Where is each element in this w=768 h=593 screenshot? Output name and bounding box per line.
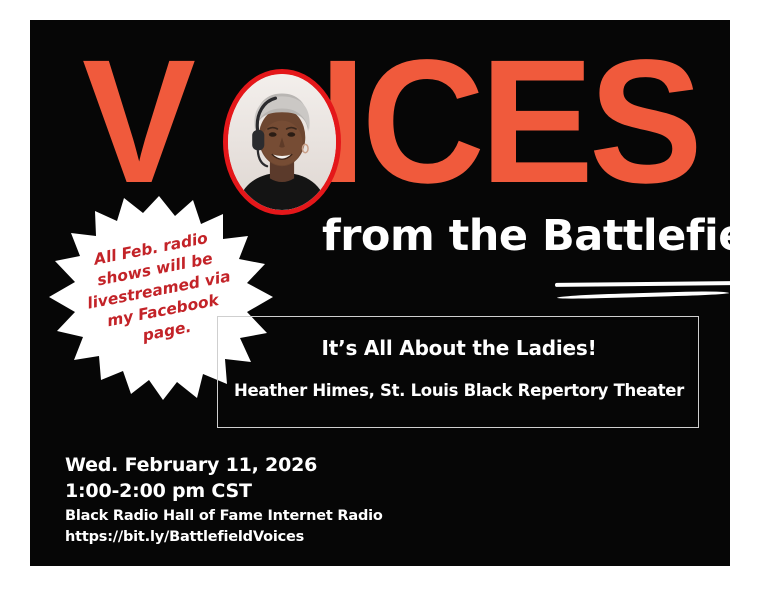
underline-stroke-top bbox=[555, 281, 730, 287]
event-station: Black Radio Hall of Fame Internet Radio bbox=[65, 506, 383, 527]
voices-letters-ices: ICES bbox=[319, 24, 698, 220]
tagline-underline-swooshes bbox=[555, 282, 730, 300]
voices-wordmark-text: VOICES bbox=[82, 38, 698, 206]
show-title: It’s All About the Ladies! bbox=[218, 336, 700, 360]
tagline-text: from the Battlefield bbox=[322, 212, 730, 260]
underline-stroke-bottom bbox=[557, 291, 729, 300]
event-date: Wed. February 11, 2026 bbox=[65, 452, 383, 478]
event-details: Wed. February 11, 2026 1:00-2:00 pm CST … bbox=[65, 452, 383, 547]
event-time: 1:00-2:00 pm CST bbox=[65, 478, 383, 504]
show-title-box: It’s All About the Ladies! Heather Himes… bbox=[217, 316, 699, 428]
voices-wordmark: VOICES bbox=[30, 38, 730, 208]
poster-panel: VOICES bbox=[30, 20, 730, 566]
show-guest: Heather Himes, St. Louis Black Repertory… bbox=[218, 381, 700, 400]
event-url[interactable]: https://bit.ly/BattlefieldVoices bbox=[65, 527, 383, 547]
flyer-canvas: VOICES bbox=[0, 0, 768, 593]
